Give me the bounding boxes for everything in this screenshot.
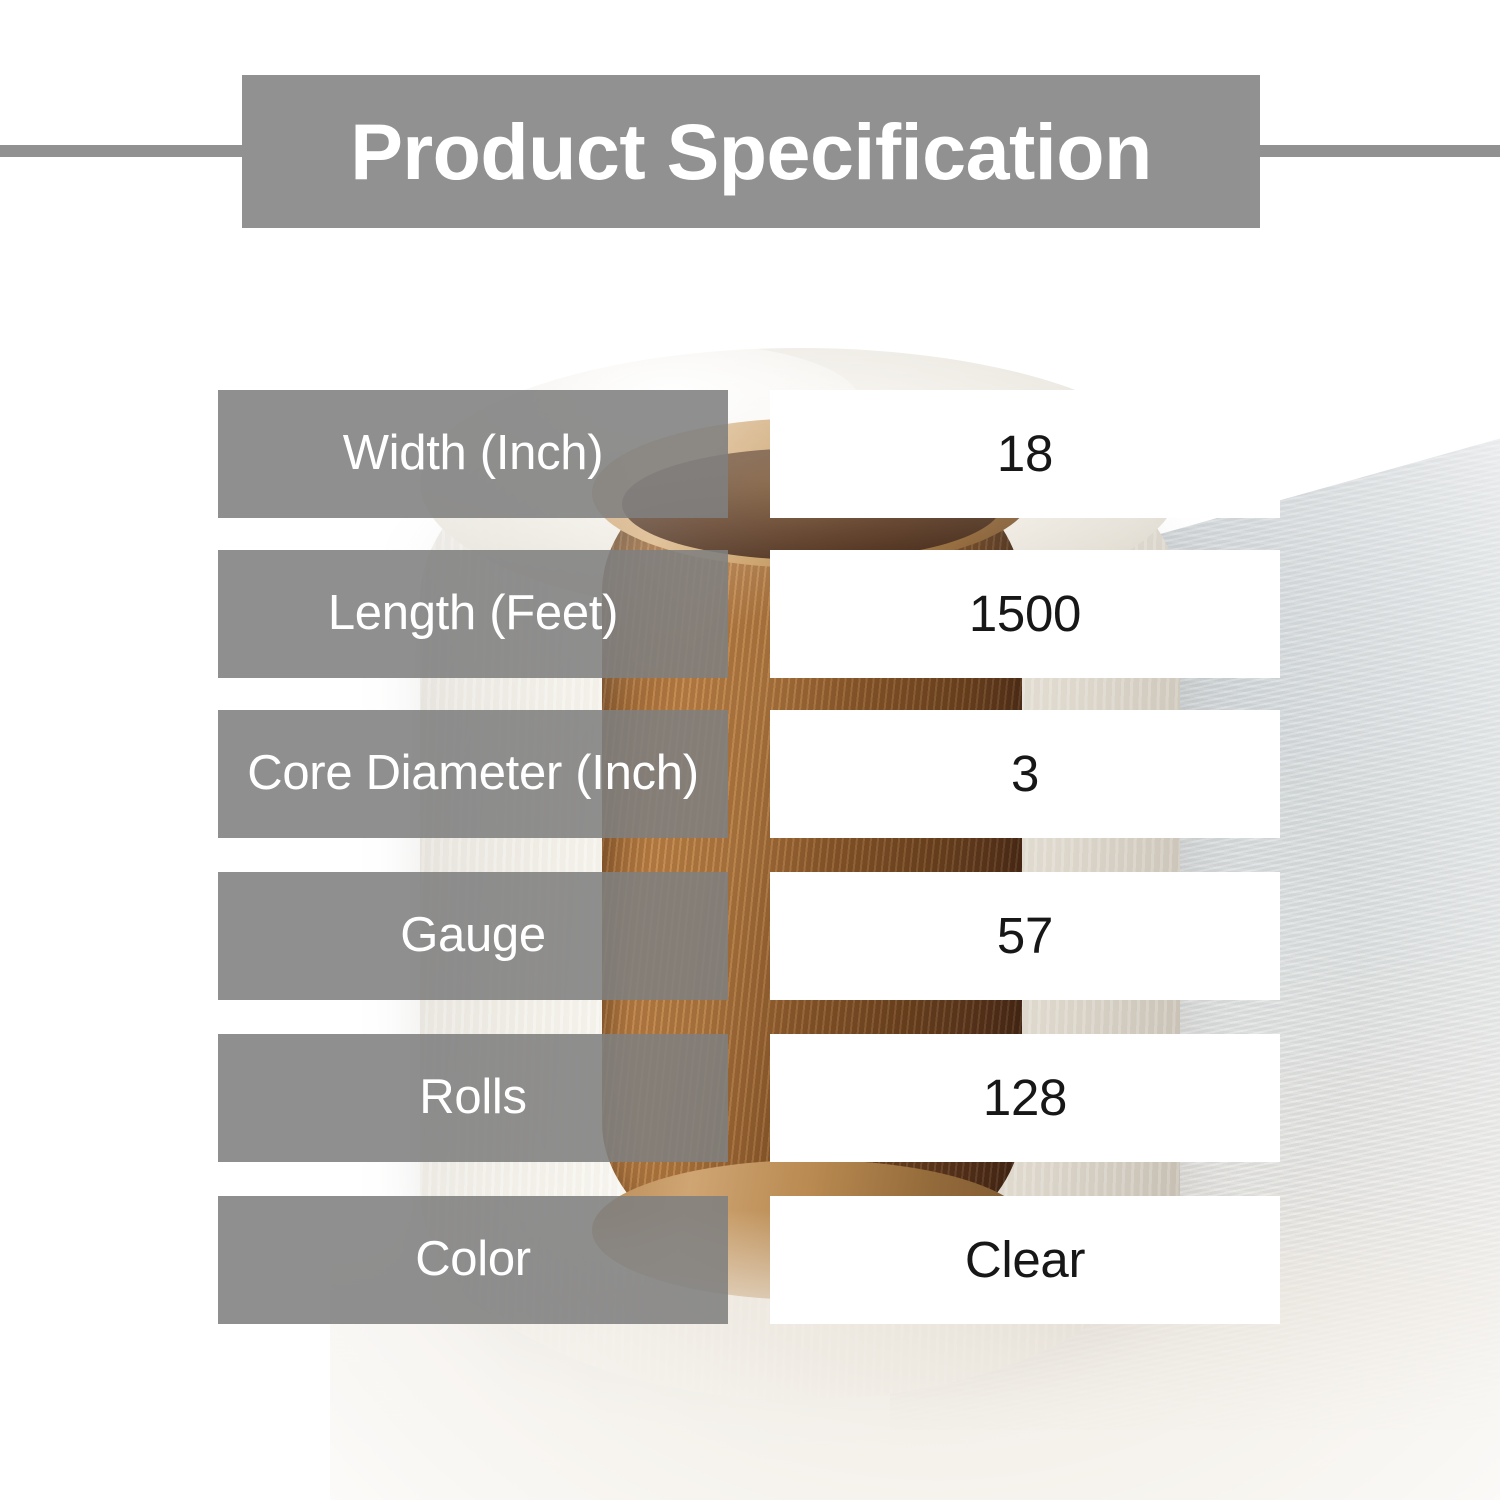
header-rule-right xyxy=(1252,145,1500,157)
product-specification-page: Product Specification Width (Inch) 18 Le… xyxy=(0,0,1500,1500)
spec-label-cell: Rolls xyxy=(218,1034,728,1162)
spec-label-text: Width (Inch) xyxy=(343,428,604,480)
table-row: Length (Feet) 1500 xyxy=(0,550,1500,678)
spec-value-text: Clear xyxy=(965,1233,1085,1287)
table-row: Color Clear xyxy=(0,1196,1500,1324)
spec-label-text: Gauge xyxy=(400,910,546,962)
table-row: Width (Inch) 18 xyxy=(0,390,1500,518)
spec-value-text: 18 xyxy=(997,427,1053,481)
spec-value-cell: 57 xyxy=(770,872,1280,1000)
spec-label-text: Color xyxy=(415,1234,531,1286)
table-row: Rolls 128 xyxy=(0,1034,1500,1162)
spec-label-text: Core Diameter (Inch) xyxy=(247,748,698,800)
page-title: Product Specification xyxy=(350,112,1152,191)
spec-value-cell: Clear xyxy=(770,1196,1280,1324)
spec-value-text: 3 xyxy=(1011,747,1039,801)
spec-value-cell: 1500 xyxy=(770,550,1280,678)
table-row: Core Diameter (Inch) 3 xyxy=(0,710,1500,838)
spec-value-cell: 128 xyxy=(770,1034,1280,1162)
spec-label-text: Length (Feet) xyxy=(328,588,618,640)
spec-label-cell: Width (Inch) xyxy=(218,390,728,518)
header-rule-left xyxy=(0,145,250,157)
spec-label-cell: Length (Feet) xyxy=(218,550,728,678)
spec-label-cell: Gauge xyxy=(218,872,728,1000)
table-row: Gauge 57 xyxy=(0,872,1500,1000)
spec-label-cell: Core Diameter (Inch) xyxy=(218,710,728,838)
spec-value-text: 128 xyxy=(983,1071,1067,1125)
spec-value-text: 57 xyxy=(997,909,1053,963)
spec-value-cell: 3 xyxy=(770,710,1280,838)
spec-value-cell: 18 xyxy=(770,390,1280,518)
spec-value-text: 1500 xyxy=(969,587,1081,641)
spec-label-text: Rolls xyxy=(419,1072,526,1124)
page-title-banner: Product Specification xyxy=(242,75,1260,228)
spec-label-cell: Color xyxy=(218,1196,728,1324)
